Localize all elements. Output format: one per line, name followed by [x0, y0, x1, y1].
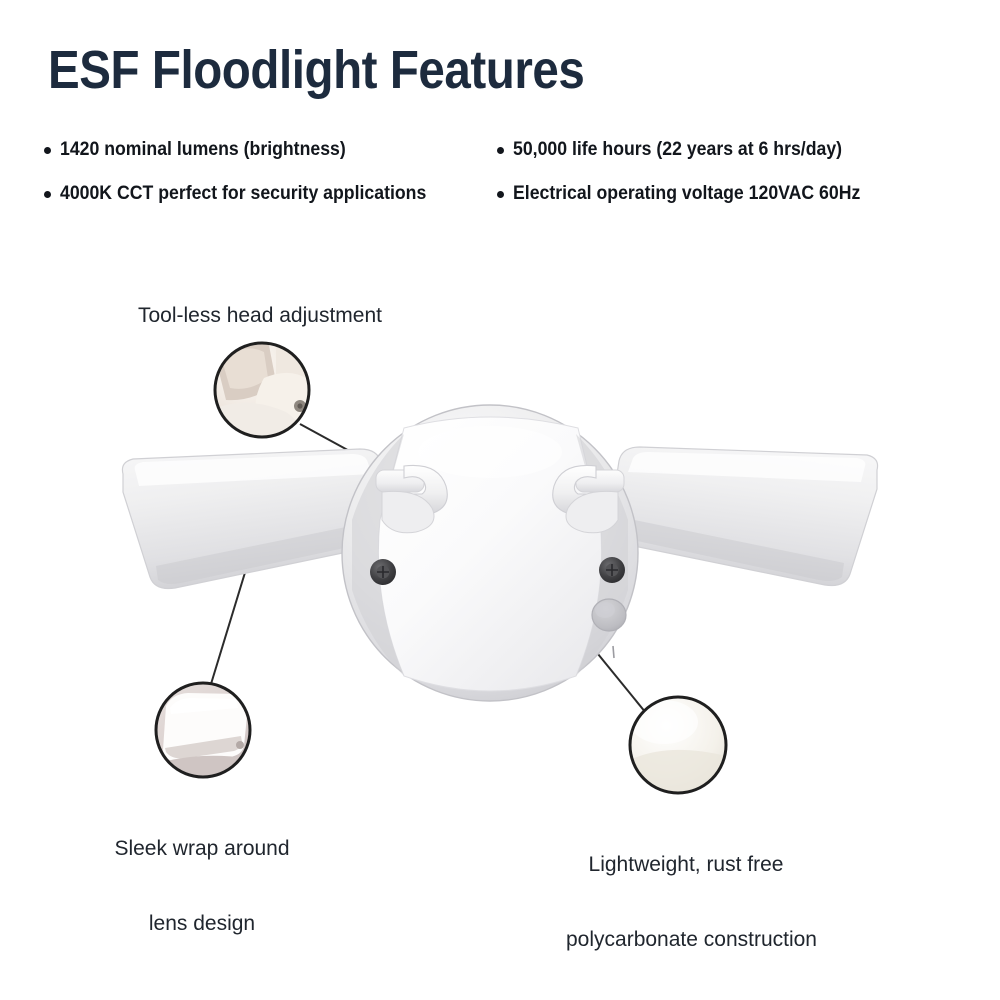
- magnifier-polycarbonate: [628, 697, 730, 794]
- leader-line-lens-design: [211, 566, 247, 684]
- callout-label-polycarbonate: Lightweight, rust free polycarbonate con…: [566, 802, 806, 977]
- callout-label-head-adjustment: Tool-less head adjustment: [138, 303, 382, 328]
- left-screw: [370, 559, 396, 585]
- callout-line-2: lens design: [112, 911, 292, 936]
- callout-line-1: Lightweight, rust free: [566, 852, 806, 877]
- callout-label-lens-design: Sleek wrap around lens design: [112, 786, 292, 961]
- callout-line-1: Sleek wrap around: [112, 836, 292, 861]
- callout-line-2: polycarbonate construction: [566, 927, 806, 952]
- central-body-dome: [342, 405, 638, 701]
- right-lens-head: [609, 447, 878, 586]
- right-screw: [599, 557, 625, 583]
- button-tick-mark: [613, 646, 614, 658]
- magnifier-lens-design: [156, 683, 250, 780]
